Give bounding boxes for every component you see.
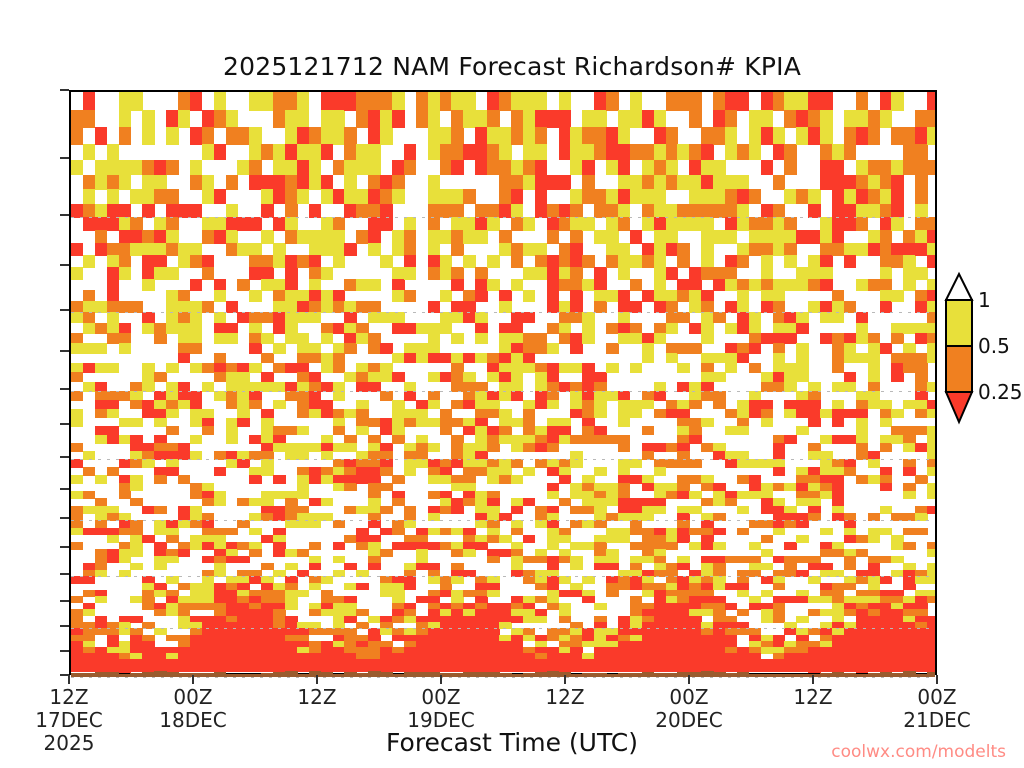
terrain-segment — [95, 672, 107, 677]
terrain-segment — [202, 673, 214, 677]
y-tick-mark-500 — [60, 388, 69, 390]
terrain-segment — [773, 674, 785, 677]
x-tick-label-6: 12Z — [793, 686, 832, 709]
y-tick-mark-300 — [60, 214, 69, 216]
terrain-segment — [321, 672, 333, 677]
y-tick-mark-800 — [60, 573, 69, 575]
terrain-segment — [214, 672, 226, 677]
terrain-segment — [784, 674, 796, 677]
terrain-segment — [808, 674, 820, 677]
terrain-segment — [166, 672, 178, 677]
terrain-segment — [868, 673, 880, 677]
terrain-segment — [499, 673, 511, 677]
x-tick-time: 12Z — [297, 686, 336, 709]
terrain-segment — [107, 672, 119, 677]
colorbar-tick-0.5: 0.5 — [978, 334, 1010, 358]
terrain-segment — [130, 673, 142, 677]
terrain-segment — [618, 673, 630, 677]
x-tick-mark-4 — [564, 675, 566, 684]
y-tick-mark-600 — [60, 456, 69, 458]
terrain-segment — [761, 674, 773, 677]
x-tick-label-5: 00Z20DEC — [655, 686, 722, 732]
y-tick-mark-700 — [60, 517, 69, 519]
terrain-segment — [416, 672, 428, 677]
terrain-segment — [582, 673, 594, 677]
terrain-segment — [451, 673, 463, 677]
x-tick-time: 00Z — [159, 686, 226, 709]
y-tick-mark-450 — [60, 350, 69, 352]
terrain-segment — [820, 673, 832, 677]
terrain-segment — [249, 674, 261, 677]
terrain-segment — [237, 674, 249, 677]
x-tick-mark-2 — [316, 675, 318, 684]
y-tick-mark-200 — [60, 89, 69, 91]
terrain-segment — [404, 672, 416, 677]
terrain-segment — [570, 674, 582, 677]
x-tick-label-7: 00Z21DEC — [903, 686, 970, 732]
y-tick-mark-950 — [60, 650, 69, 652]
x-tick-mark-3 — [440, 675, 442, 684]
terrain-segment — [701, 671, 713, 677]
terrain-segment — [547, 671, 559, 677]
terrain-segment — [725, 673, 737, 677]
y-tick-mark-750 — [60, 546, 69, 548]
terrain-segment — [392, 674, 404, 677]
terrain-segment — [654, 673, 666, 677]
x-tick-time: 00Z — [407, 686, 474, 709]
terrain-segment — [428, 672, 440, 677]
y-tick-mark-350 — [60, 264, 69, 266]
x-tick-label-3: 00Z19DEC — [407, 686, 474, 732]
terrain-segment — [891, 673, 903, 677]
colorbar-tick-1: 1 — [978, 288, 991, 312]
terrain-segment — [142, 672, 154, 677]
terrain-segment — [832, 672, 844, 677]
terrain-segment — [856, 674, 868, 677]
terrain-segment — [285, 671, 297, 677]
x-tick-label-2: 12Z — [297, 686, 336, 709]
terrain-segment — [666, 673, 678, 677]
colorbar-tick-0.25: 0.25 — [978, 380, 1023, 404]
terrain-segment — [261, 673, 273, 677]
terrain-segment — [368, 671, 380, 677]
terrain-segment — [83, 673, 95, 677]
terrain-segment — [178, 673, 190, 677]
x-tick-time: 12Z — [793, 686, 832, 709]
terrain-segment — [523, 673, 535, 677]
terrain-segment — [71, 673, 83, 677]
terrain-segment — [119, 674, 131, 677]
y-tick-mark-650 — [60, 488, 69, 490]
watermark: coolwx.com/modelts — [831, 742, 1006, 762]
y-tick-mark-850 — [60, 600, 69, 602]
terrain-segment — [880, 672, 892, 677]
terrain-segment — [380, 672, 392, 677]
x-tick-label-1: 00Z18DEC — [159, 686, 226, 732]
plot-area — [69, 90, 937, 675]
gridline-1000 — [71, 677, 935, 678]
terrain-segment — [154, 671, 166, 677]
terrain-segment — [594, 673, 606, 677]
x-tick-time: 00Z — [655, 686, 722, 709]
x-tick-time: 12Z — [35, 686, 102, 709]
terrain-segment — [689, 672, 701, 677]
x-tick-time: 12Z — [545, 686, 584, 709]
terrain-segment — [535, 672, 547, 677]
y-tick-mark-900 — [60, 625, 69, 627]
terrain-segment — [226, 674, 238, 678]
chart-title: 2025121712 NAM Forecast Richardson# KPIA — [0, 52, 1024, 81]
terrain-segment — [333, 674, 345, 677]
terrain-segment — [487, 672, 499, 677]
terrain-segment — [844, 673, 856, 677]
terrain-segment — [475, 672, 487, 677]
colorbar-swatches — [942, 274, 976, 444]
terrain-segment — [606, 674, 618, 677]
x-tick-mark-5 — [688, 675, 690, 684]
x-tick-label-4: 12Z — [545, 686, 584, 709]
x-tick-time: 00Z — [903, 686, 970, 709]
terrain-segment — [511, 674, 523, 677]
terrain-segment — [927, 672, 935, 677]
terrain-segment — [297, 674, 309, 677]
terrain-segment — [463, 672, 475, 677]
terrain-segment — [796, 674, 808, 677]
terrain-segment — [642, 672, 654, 677]
terrain-segment — [273, 672, 285, 677]
terrain-segment — [630, 673, 642, 677]
terrain-segment — [903, 671, 915, 677]
terrain-segment — [356, 673, 368, 677]
terrain-segment — [344, 672, 356, 677]
x-tick-mark-6 — [812, 675, 814, 684]
terrain-segment — [749, 674, 761, 677]
x-tick-mark-1 — [192, 675, 194, 684]
terrain-segment — [915, 674, 927, 677]
y-tick-mark-550 — [60, 423, 69, 425]
y-tick-mark-250 — [60, 157, 69, 159]
terrain-segment — [713, 672, 725, 677]
x-tick-mark-7 — [936, 675, 938, 684]
terrain-mask — [71, 92, 935, 677]
x-tick-mark-0 — [68, 675, 70, 684]
y-tick-mark-400 — [60, 309, 69, 311]
terrain-segment — [737, 672, 749, 677]
